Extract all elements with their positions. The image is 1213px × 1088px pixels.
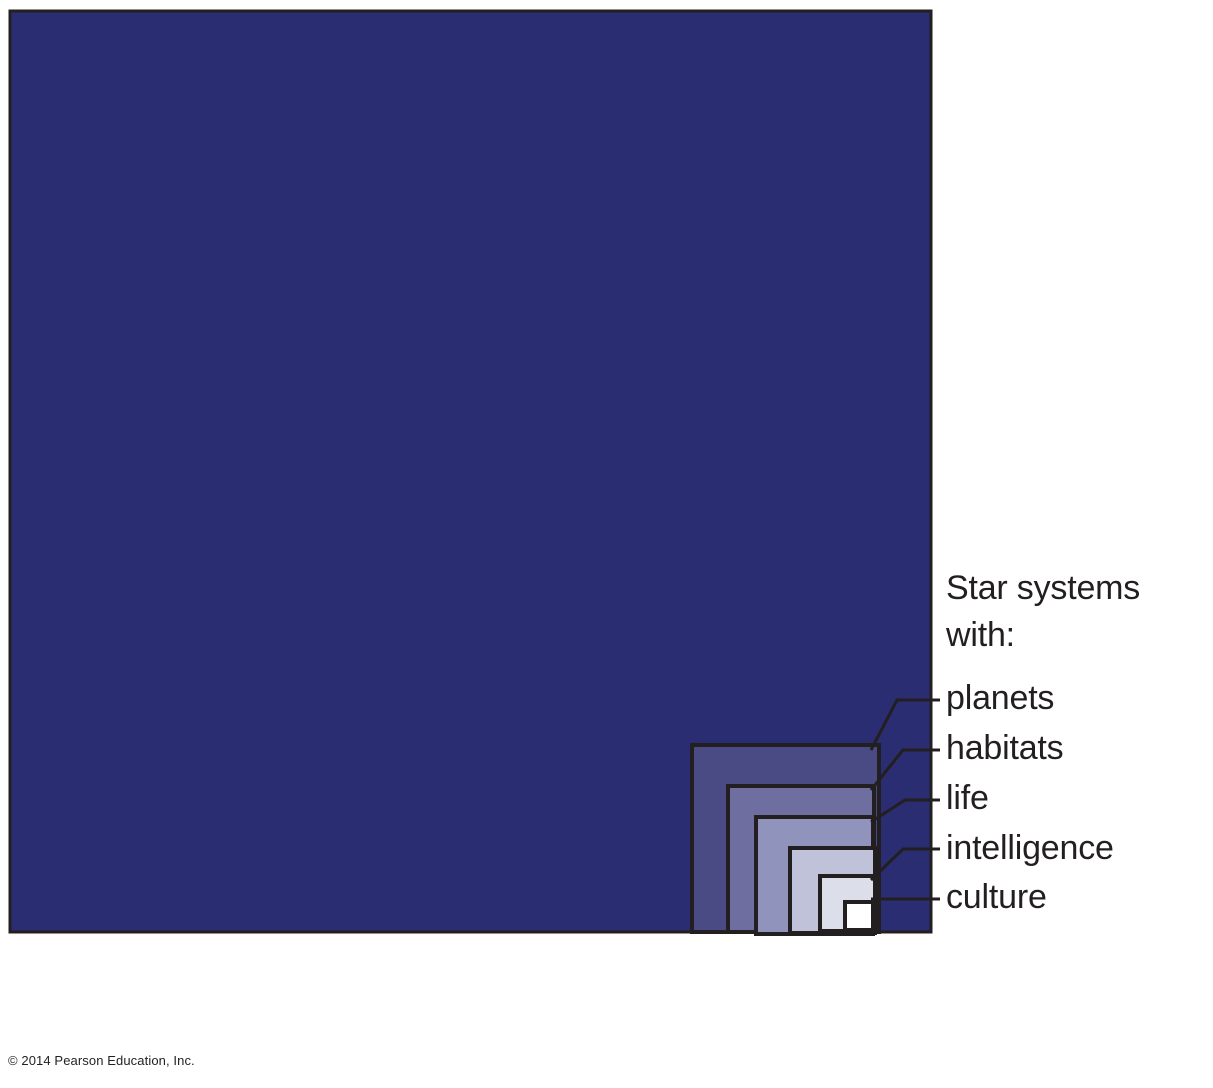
legend-label-culture: culture [946,878,1047,916]
copyright-notice: © 2014 Pearson Education, Inc. [8,1053,195,1069]
legend-label-life: life [946,779,989,817]
legend-label-habitats: habitats [946,729,1063,767]
legend-layer: Star systemswith: planets habitats life … [0,0,1213,1088]
legend-heading-line-2: with: [946,616,1015,654]
legend-heading-line-1: Star systems [946,569,1140,607]
legend-label-intelligence: intelligence [946,829,1114,867]
legend-heading: Star systemswith: [946,565,1208,659]
legend-label-planets: planets [946,679,1054,717]
figure-nested-squares: Star systemswith: planets habitats life … [0,0,1213,1088]
